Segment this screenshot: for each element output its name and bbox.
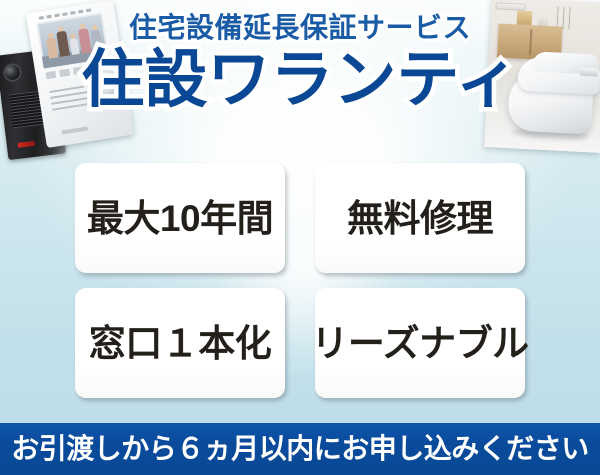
cta-bottom-bar: お引渡しから６ヵ月以内にお申し込みください: [0, 423, 600, 475]
wall-vent: [495, 2, 525, 11]
feature-box-max-10-years: 最大10年間: [75, 163, 285, 273]
feature-box-reasonable: リーズナブル: [315, 288, 525, 398]
feature-box-row: 最大10年間 無料修理: [0, 163, 600, 273]
screen-person: [46, 37, 58, 58]
feature-label: 無料修理: [347, 200, 493, 237]
cta-text: お引渡しから６ヵ月以内にお申し込みください: [11, 435, 589, 463]
feature-label: リーズナブル: [311, 325, 528, 362]
shelf-item-box: [517, 10, 533, 25]
promo-banner: 住宅設備延長保証サービス 住設ワランティ 最大10年間 無料修理 窓口１本化 リ…: [0, 0, 600, 475]
camera-lens-icon: [4, 64, 21, 81]
monitor-brand-mark: [62, 127, 88, 135]
feature-label: 最大10年間: [87, 200, 273, 237]
feature-box-grid: 最大10年間 無料修理 窓口１本化 リーズナブル: [0, 163, 600, 413]
feature-box-row: 窓口１本化 リーズナブル: [0, 288, 600, 398]
screen-person: [56, 31, 70, 57]
feature-box-single-contact: 窓口１本化: [75, 288, 285, 398]
feature-box-free-repair: 無料修理: [315, 163, 525, 273]
monitor-keypad: [49, 85, 92, 111]
washlet-control-panel: [580, 68, 598, 77]
toilet-washlet-photo: [484, 0, 600, 153]
monitor-dial-knob: [91, 68, 122, 99]
call-button-indicator: [18, 141, 35, 148]
monitor-screen: [37, 13, 109, 69]
shelf-item-bottle: [538, 14, 549, 27]
screen-person: [90, 29, 102, 51]
screen-person: [69, 38, 79, 55]
feature-label: 窓口１本化: [89, 325, 272, 362]
